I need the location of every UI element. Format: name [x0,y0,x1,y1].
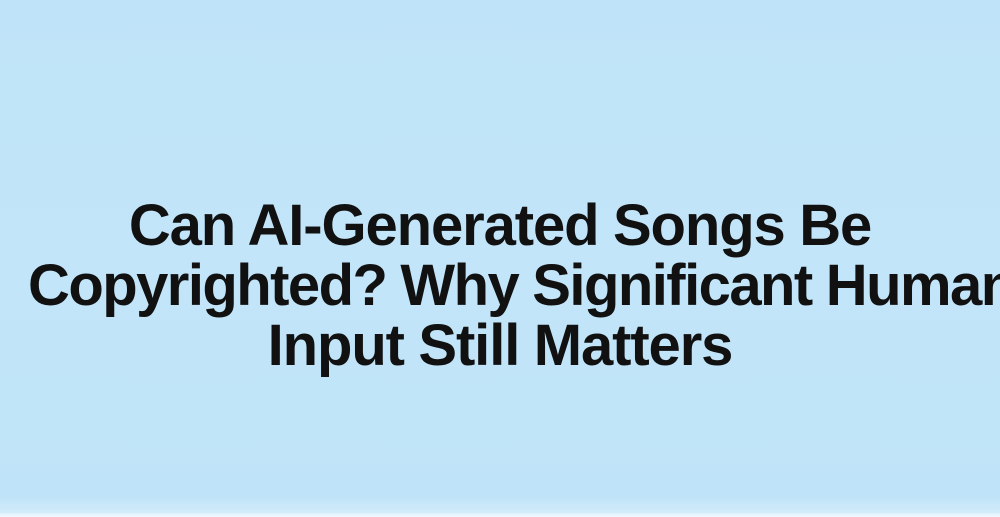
headline-line-1: Can AI-Generated Songs Be [28,196,972,256]
hero-banner: Can AI-Generated Songs Be Copyrighted? W… [0,0,1000,517]
headline-line-2: Copyrighted? Why Significant Human [28,256,972,316]
bottom-edge-band [0,513,1000,517]
headline-line-3: Input Still Matters [28,316,972,376]
page-title: Can AI-Generated Songs Be Copyrighted? W… [28,196,972,376]
headline-block: Can AI-Generated Songs Be Copyrighted? W… [0,196,1000,376]
